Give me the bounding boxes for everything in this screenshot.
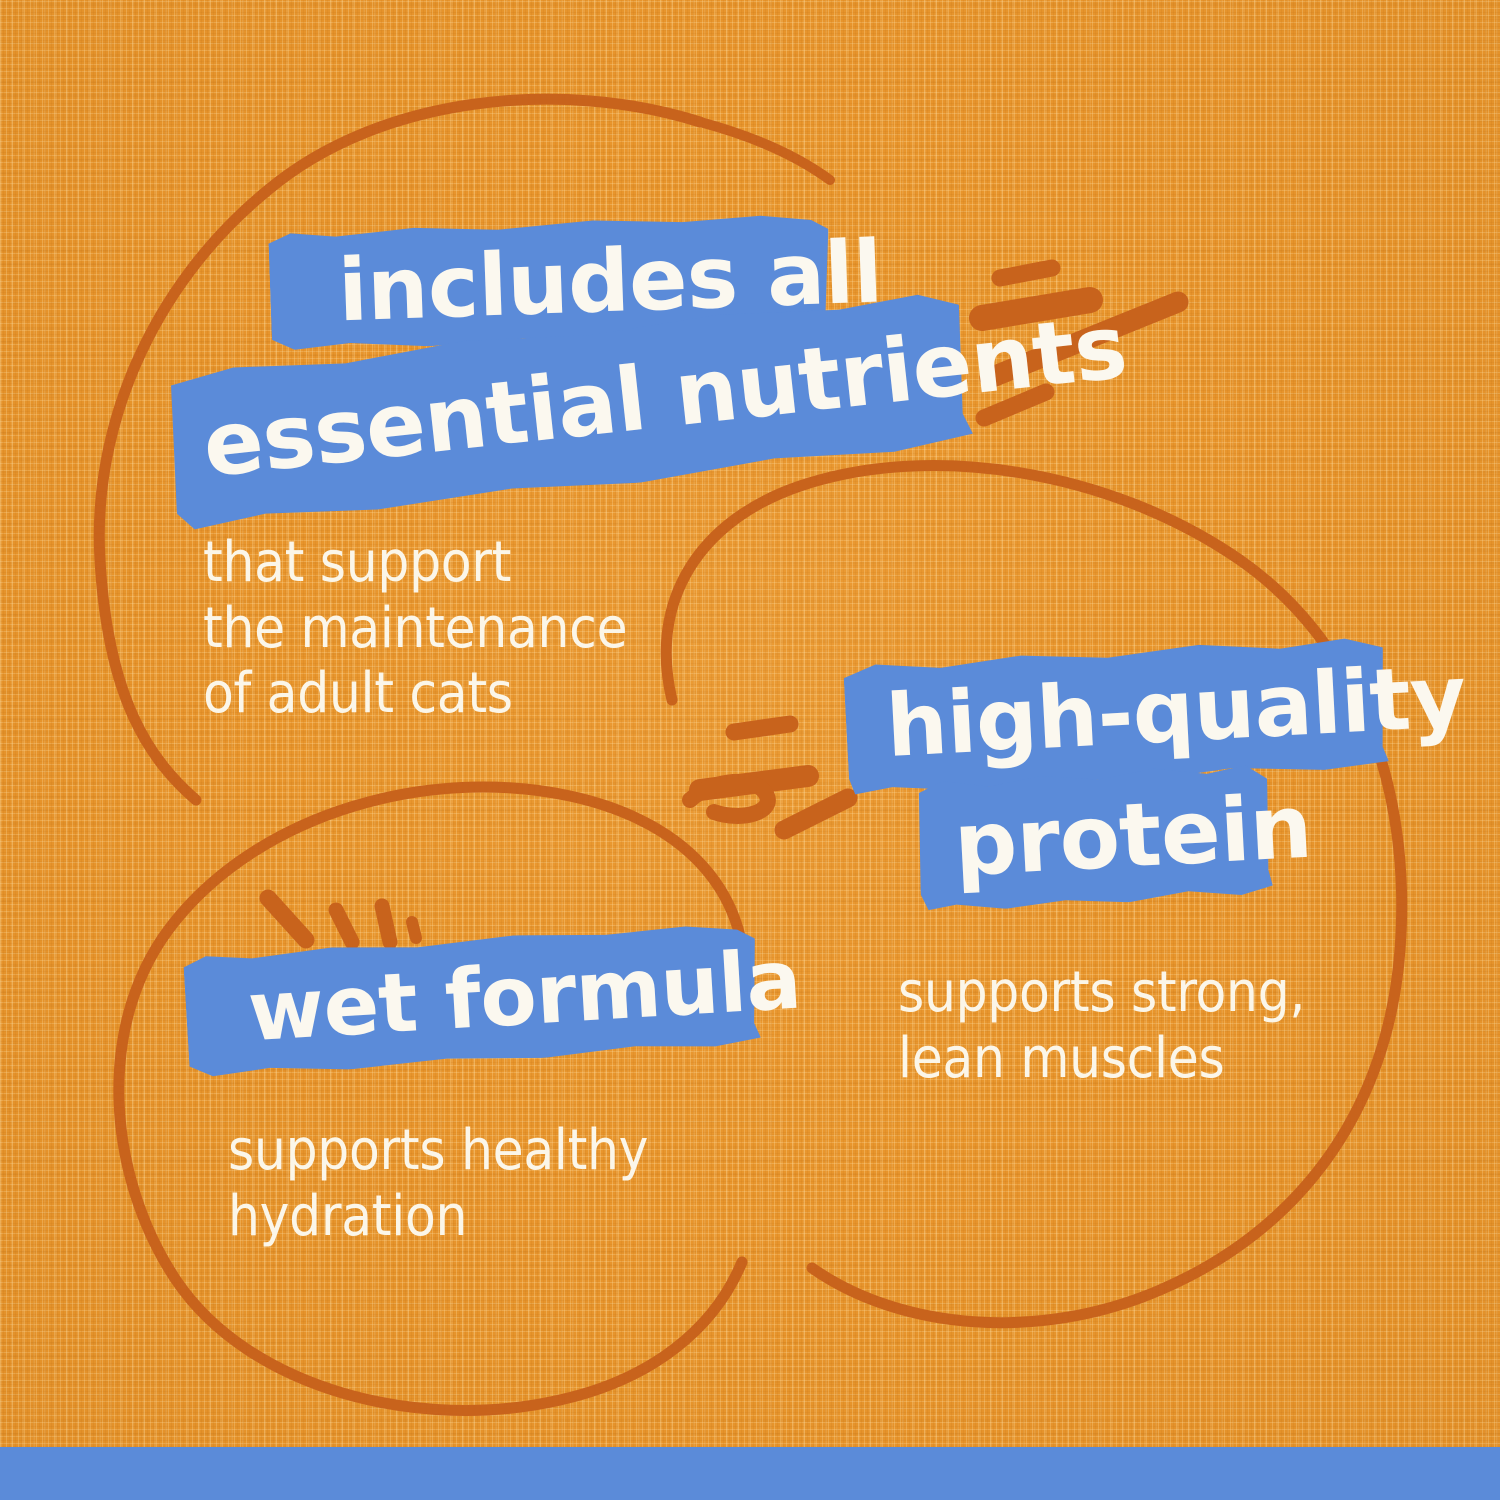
sketch-circle-bottom-left [119, 787, 745, 1410]
sketch-circle-top-left-tail [700, 122, 830, 180]
body-text-high-quality-protein: supports strong, lean muscles [898, 960, 1305, 1091]
footer-bar [0, 1447, 1500, 1500]
accent-ticks-wet-formula [268, 898, 416, 942]
infographic-panel: includes all essential nutrients that su… [0, 0, 1500, 1500]
highlight-protein: protein [915, 763, 1273, 913]
headline-line-protein: protein [952, 783, 1314, 890]
body-text-wet-formula: supports healthy hydration [228, 1118, 648, 1249]
body-text-essential-nutrients: that support the maintenance of adult ca… [203, 530, 627, 727]
accent-speed-lines-protein [690, 724, 848, 830]
